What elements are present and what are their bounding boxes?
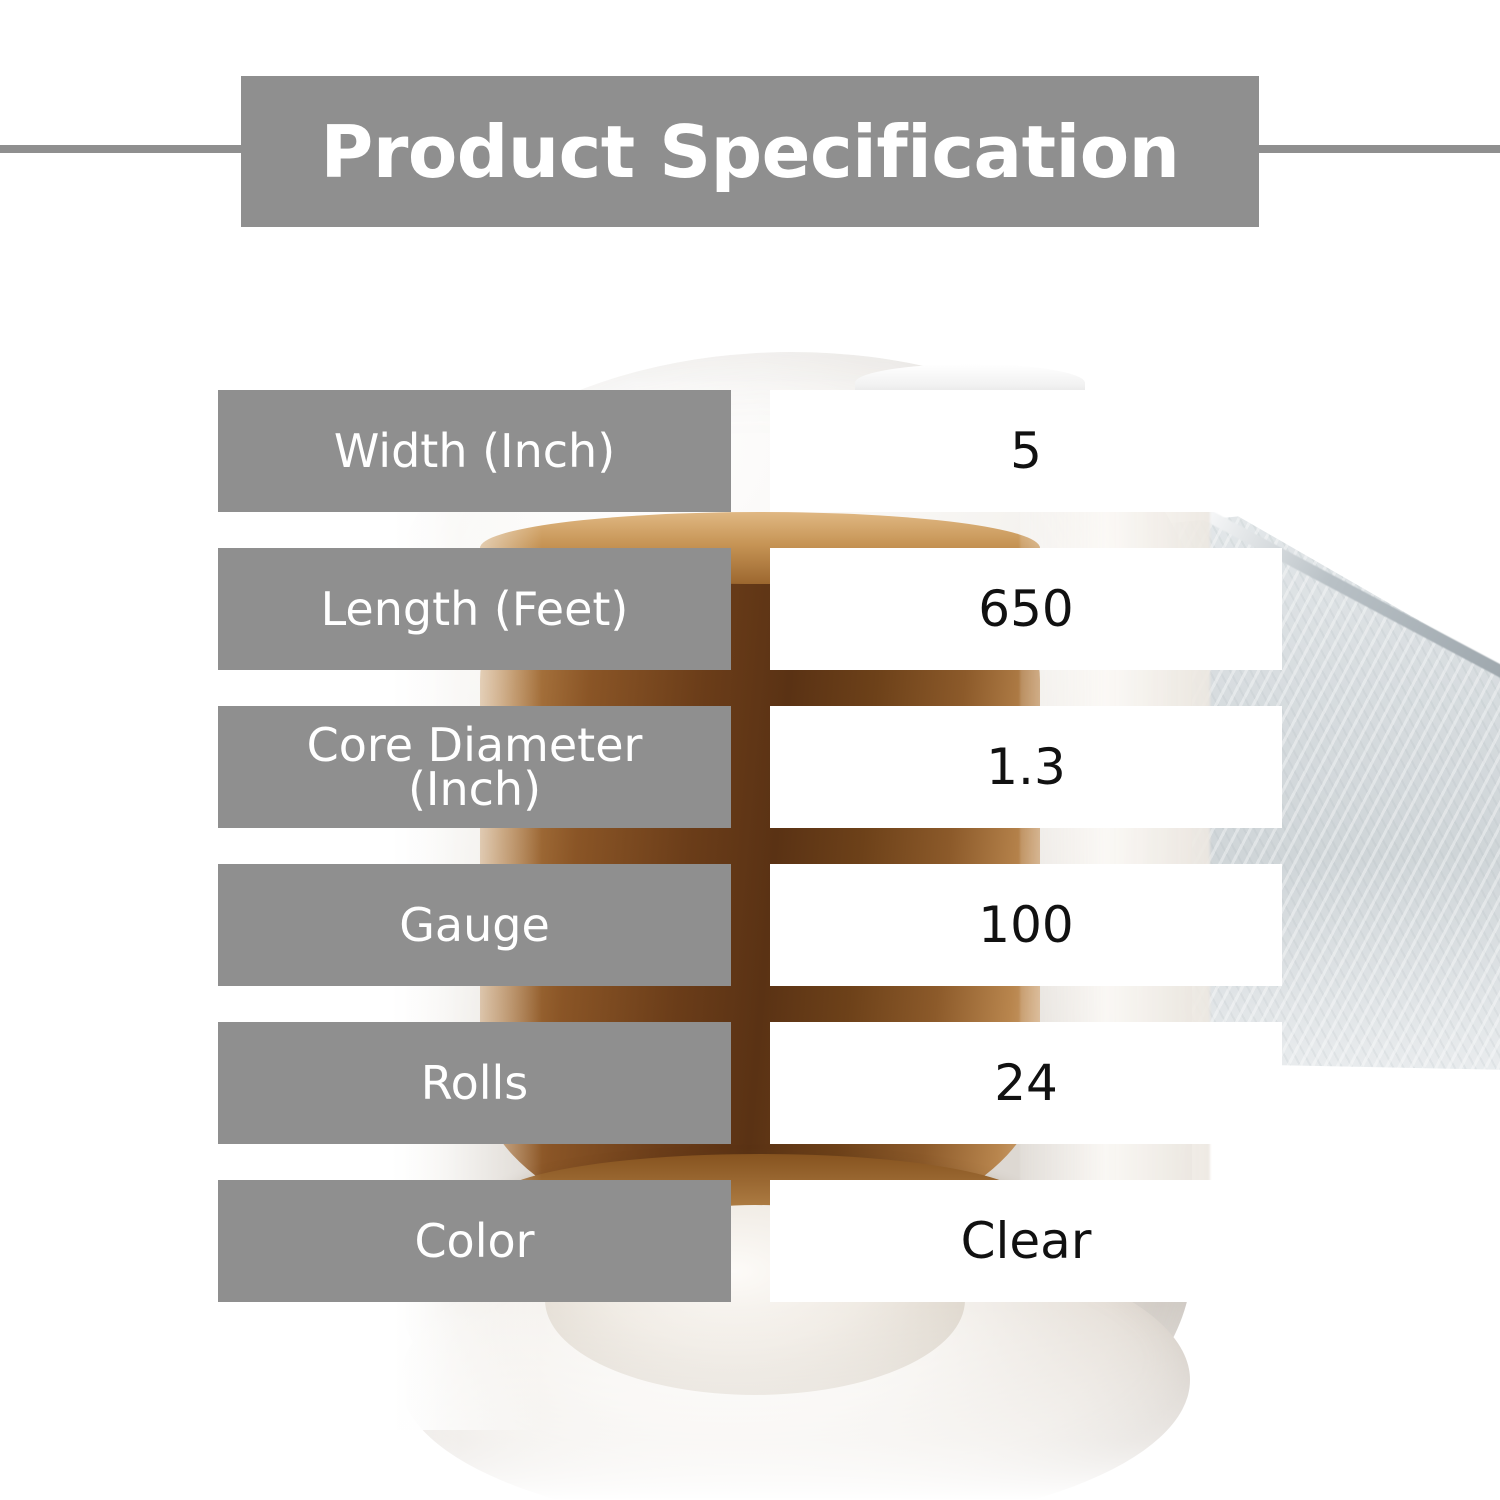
- table-row: Length (Feet) 650: [218, 548, 1282, 670]
- spec-label-rolls: Rolls: [218, 1022, 731, 1144]
- spec-value-rolls: 24: [770, 1022, 1282, 1144]
- table-row: Color Clear: [218, 1180, 1282, 1302]
- table-row: Rolls 24: [218, 1022, 1282, 1144]
- spec-label-text: Color: [414, 1219, 534, 1263]
- spec-label-length: Length (Feet): [218, 548, 731, 670]
- spec-value-text: Clear: [961, 1216, 1092, 1266]
- spec-value-width: 5: [770, 390, 1282, 512]
- spec-value-core-diameter: 1.3: [770, 706, 1282, 828]
- table-row: Core Diameter (Inch) 1.3: [218, 706, 1282, 828]
- spec-value-length: 650: [770, 548, 1282, 670]
- spec-label-text: Gauge: [399, 903, 550, 947]
- table-row: Width (Inch) 5: [218, 390, 1282, 512]
- spec-label-width: Width (Inch): [218, 390, 731, 512]
- spec-label-core-diameter: Core Diameter (Inch): [218, 706, 731, 828]
- table-row: Gauge 100: [218, 864, 1282, 986]
- spec-value-text: 650: [978, 584, 1073, 634]
- spec-value-gauge: 100: [770, 864, 1282, 986]
- spec-value-text: 24: [994, 1058, 1058, 1108]
- header-banner: Product Specification: [241, 76, 1259, 227]
- spec-label-color: Color: [218, 1180, 731, 1302]
- spec-label-gauge: Gauge: [218, 864, 731, 986]
- spec-label-text: Width (Inch): [334, 429, 615, 473]
- specification-table: Width (Inch) 5 Length (Feet) 650 Core Di…: [218, 390, 1282, 1338]
- spec-label-text: Core Diameter (Inch): [307, 723, 643, 811]
- spec-label-text: Length (Feet): [321, 587, 629, 631]
- page-title: Product Specification: [321, 116, 1180, 188]
- spec-value-text: 1.3: [986, 742, 1066, 792]
- spec-value-color: Clear: [770, 1180, 1282, 1302]
- product-specification-infographic: Product Specification Width (Inch) 5 Len…: [0, 0, 1500, 1500]
- spec-value-text: 100: [978, 900, 1073, 950]
- spec-value-text: 5: [1010, 426, 1042, 476]
- spec-label-text: Rolls: [421, 1061, 529, 1105]
